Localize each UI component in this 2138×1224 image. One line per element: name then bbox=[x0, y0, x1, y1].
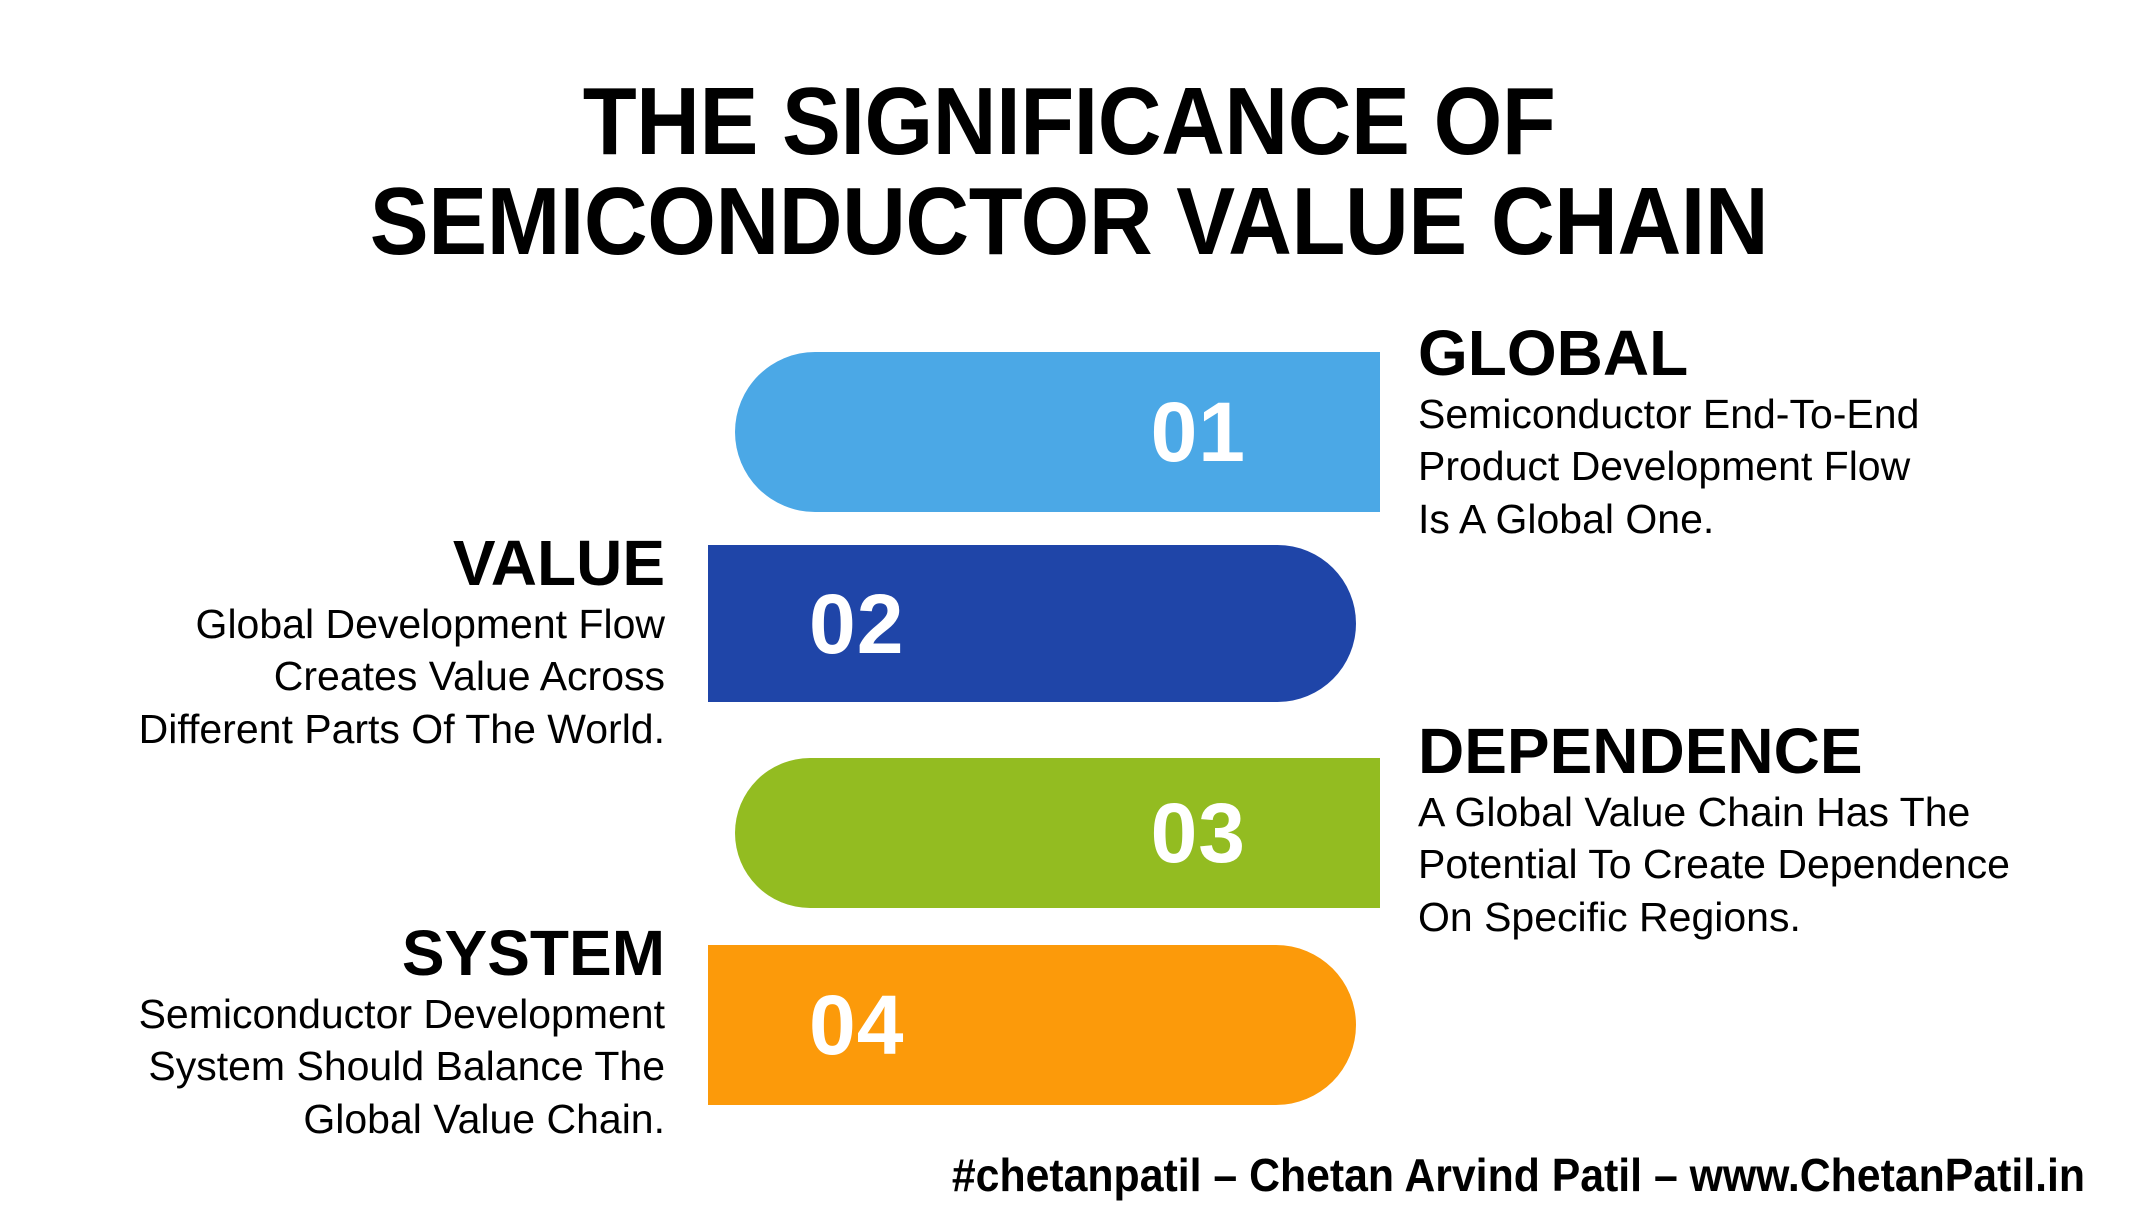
value-chain-bar-02[interactable]: 02 bbox=[708, 545, 1356, 702]
caption-heading-value: VALUE bbox=[60, 530, 665, 598]
caption-body-value: Global Development Flow Creates Value Ac… bbox=[60, 598, 665, 755]
caption-heading-system: SYSTEM bbox=[40, 920, 665, 988]
bar-number-02: 02 bbox=[809, 582, 904, 666]
caption-dependence: DEPENDENCE A Global Value Chain Has The … bbox=[1418, 718, 2130, 943]
value-chain-bar-04[interactable]: 04 bbox=[708, 945, 1356, 1105]
bar-number-03: 03 bbox=[1151, 791, 1246, 875]
caption-body-global: Semiconductor End-To-End Product Develop… bbox=[1418, 388, 2118, 545]
bar-number-01: 01 bbox=[1151, 390, 1246, 474]
caption-heading-dependence: DEPENDENCE bbox=[1418, 718, 2130, 786]
caption-system: SYSTEM Semiconductor Development System … bbox=[40, 920, 665, 1145]
bar-number-04: 04 bbox=[809, 983, 904, 1067]
caption-body-system: Semiconductor Development System Should … bbox=[40, 988, 665, 1145]
page-title: THE SIGNIFICANCE OF SEMICONDUCTOR VALUE … bbox=[86, 72, 2053, 272]
caption-global: GLOBAL Semiconductor End-To-End Product … bbox=[1418, 320, 2118, 545]
value-chain-bar-01[interactable]: 01 bbox=[735, 352, 1380, 512]
caption-value: VALUE Global Development Flow Creates Va… bbox=[60, 530, 665, 755]
infographic-slide: THE SIGNIFICANCE OF SEMICONDUCTOR VALUE … bbox=[0, 0, 2138, 1224]
caption-heading-global: GLOBAL bbox=[1418, 320, 2118, 388]
caption-body-dependence: A Global Value Chain Has The Potential T… bbox=[1418, 786, 2130, 943]
value-chain-bar-03[interactable]: 03 bbox=[735, 758, 1380, 908]
footer-credit: #chetanpatil – Chetan Arvind Patil – www… bbox=[146, 1148, 2085, 1202]
